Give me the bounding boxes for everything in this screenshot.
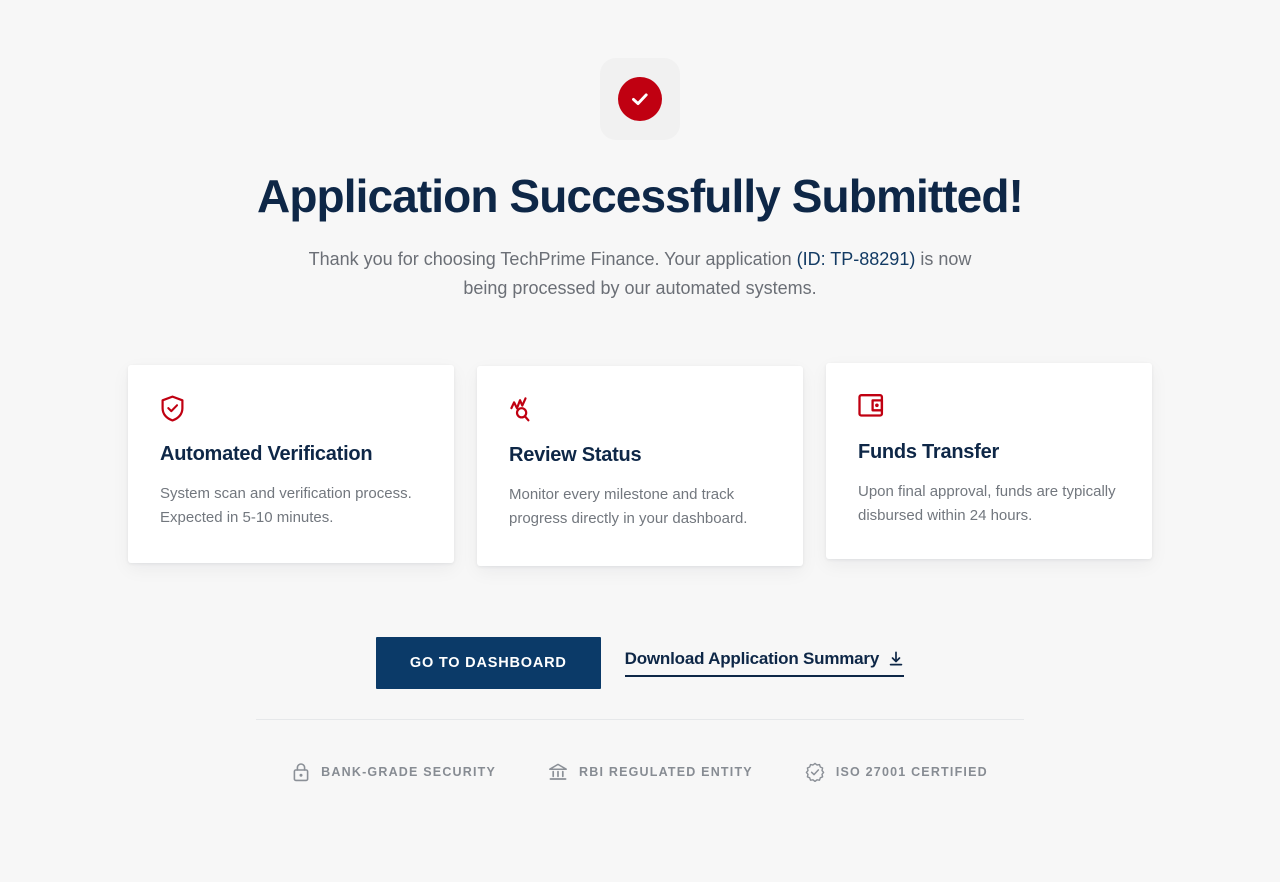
trust-badge: RBI REGULATED ENTITY [548,762,753,782]
info-card: Funds Transfer Upon final approval, fund… [826,363,1152,559]
footer-divider [256,719,1024,720]
info-card-title: Funds Transfer [858,439,1120,465]
confirmation-page: Application Successfully Submitted! Than… [0,0,1280,882]
trust-badge-label: BANK-GRADE SECURITY [321,765,496,779]
trust-badge-list: BANK-GRADE SECURITY RBI REGULATED ENTITY… [0,762,1280,782]
info-card: Review Status Monitor every milestone an… [477,366,803,566]
go-to-dashboard-button[interactable]: GO TO DASHBOARD [376,637,601,689]
subtitle: Thank you for choosing TechPrime Finance… [290,245,990,303]
shield-check-icon [160,395,422,421]
application-id: (ID: TP-88291) [797,249,916,269]
download-icon [888,651,904,667]
chart-search-icon [509,396,771,422]
info-card-title: Review Status [509,442,771,468]
trust-badge-label: RBI REGULATED ENTITY [579,765,753,779]
trust-badge: BANK-GRADE SECURITY [292,762,496,782]
info-card-description: Upon final approval, funds are typically… [858,480,1120,528]
info-card-description: System scan and verification process. Ex… [160,482,422,530]
certificate-icon [805,762,825,782]
bank-icon [548,762,568,782]
success-badge [0,58,1280,140]
info-card-list: Automated Verification System scan and v… [128,362,1152,572]
check-circle-icon [618,77,662,121]
page-title: Application Successfully Submitted! [0,166,1280,226]
info-card-description: Monitor every milestone and track progre… [509,483,771,531]
info-card: Automated Verification System scan and v… [128,365,454,563]
action-bar: GO TO DASHBOARD Download Application Sum… [0,637,1280,689]
info-card-title: Automated Verification [160,441,422,467]
lock-icon [292,762,310,782]
download-application-summary-link[interactable]: Download Application Summary [625,649,904,677]
subtitle-lead: Thank you for choosing TechPrime Finance… [309,249,797,269]
trust-badge-label: ISO 27001 CERTIFIED [836,765,988,779]
wallet-icon [858,393,1120,419]
success-badge-tile [600,58,680,140]
trust-badge: ISO 27001 CERTIFIED [805,762,988,782]
download-link-label: Download Application Summary [625,649,879,669]
